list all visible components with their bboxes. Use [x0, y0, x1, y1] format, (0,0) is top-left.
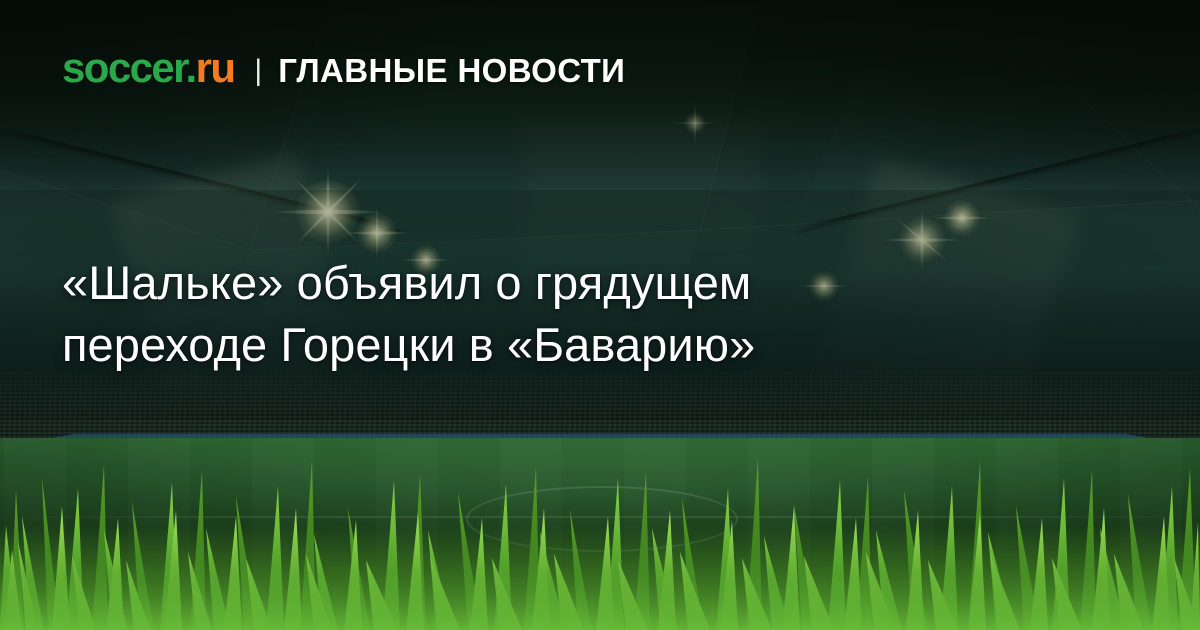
logo-word-ru: ru	[196, 44, 235, 91]
header-separator: |	[254, 56, 262, 86]
headline-line-1: «Шальке» объявил о грядущем	[62, 252, 1022, 314]
header-scrim	[0, 0, 1200, 190]
page-title: «Шальке» объявил о грядущем переходе Гор…	[62, 252, 1022, 376]
site-logo[interactable]: soccer.ru	[62, 47, 234, 89]
site-header: soccer.ru | ГЛАВНЫЕ НОВОСТИ	[62, 47, 625, 89]
headline-line-2: переходе Горецки в «Баварию»	[62, 314, 1022, 376]
header-kicker: ГЛАВНЫЕ НОВОСТИ	[278, 54, 625, 87]
logo-word-soccer: soccer	[62, 44, 186, 91]
grass-foreground	[0, 430, 1200, 630]
share-card: soccer.ru | ГЛАВНЫЕ НОВОСТИ «Шальке» объ…	[0, 0, 1200, 630]
logo-dot: .	[186, 44, 196, 91]
